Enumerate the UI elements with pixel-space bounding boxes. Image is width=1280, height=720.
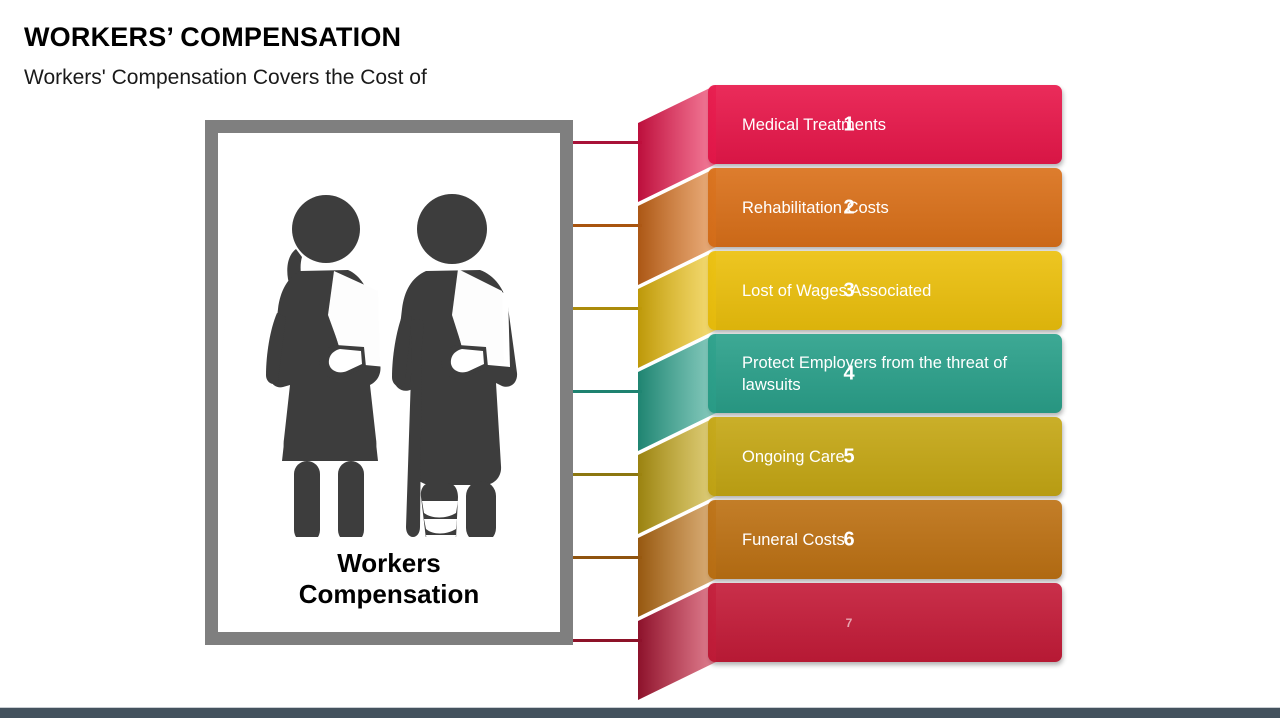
benefit-bar-2[interactable]: 2Rehabilitation Costs	[630, 168, 1076, 247]
illustration-caption: Workers Compensation	[218, 548, 560, 610]
benefit-bar-2-number: 2	[630, 196, 1068, 219]
benefit-bar-4[interactable]: 4Protect Employers from the threat of la…	[630, 334, 1076, 413]
benefit-bars-stack: 1Medical Treatments2Rehabilitation Costs…	[630, 85, 1090, 685]
benefit-bar-1-number: 1	[630, 113, 1068, 136]
two-injured-persons-pictogram	[244, 167, 534, 537]
illustration-caption-line1: Workers	[218, 548, 560, 579]
illustration-frame: Workers Compensation	[205, 120, 573, 645]
benefit-bar-5[interactable]: 5Ongoing Care	[630, 417, 1076, 496]
benefit-bar-6[interactable]: 6Funeral Costs	[630, 500, 1076, 579]
benefit-bar-3-number: 3	[630, 279, 1068, 302]
page-title: WORKERS’ COMPENSATION	[24, 22, 401, 53]
benefit-bar-1[interactable]: 1Medical Treatments	[630, 85, 1076, 164]
benefit-bar-7[interactable]: 7	[630, 583, 1076, 662]
illustration-caption-line2: Compensation	[218, 579, 560, 610]
benefit-bar-5-number: 5	[630, 445, 1068, 468]
benefit-bar-3[interactable]: 3Lost of Wages Associated	[630, 251, 1076, 330]
page-subtitle: Workers' Compensation Covers the Cost of	[24, 66, 427, 90]
footer-bar	[0, 708, 1280, 718]
benefit-bar-6-number: 6	[630, 528, 1068, 551]
benefit-bar-7-number: 7	[630, 616, 1068, 630]
benefit-bar-7-side-face	[638, 583, 716, 700]
benefit-bar-4-number: 4	[630, 362, 1068, 385]
